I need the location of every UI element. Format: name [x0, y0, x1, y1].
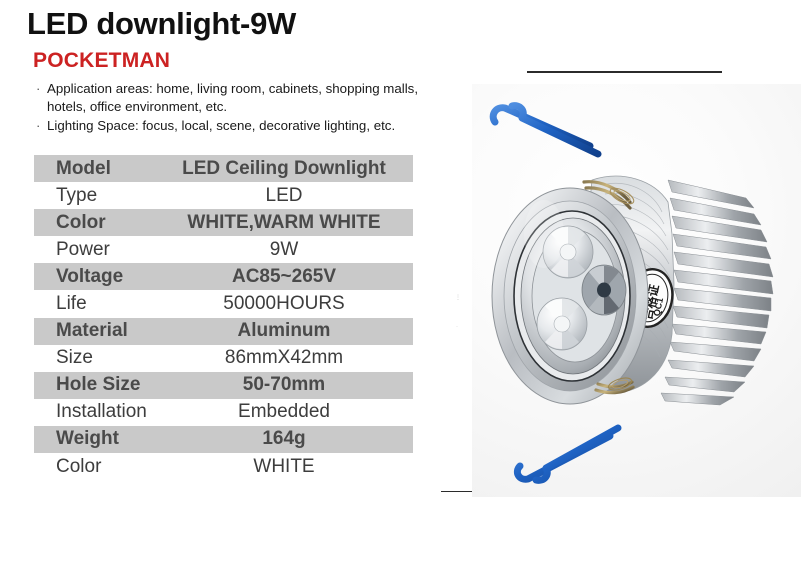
specification-table: ModelLED Ceiling DownlightTypeLEDColorWH… — [34, 155, 413, 480]
spec-value: WHITE,WARM WHITE — [159, 212, 413, 234]
spec-label: Material — [34, 320, 159, 342]
spring-clip-top — [493, 106, 598, 154]
product-photo-downlight: 合格证 QC1 — [472, 84, 801, 497]
spec-row: Hole Size50-70mm — [34, 372, 413, 399]
spec-value: LED — [159, 185, 413, 207]
bullet-icon: · — [36, 117, 40, 135]
lighting-space-row: · Lighting Space: focus, local, scene, d… — [33, 117, 473, 135]
spec-label: Voltage — [34, 266, 159, 288]
spec-label: Color — [34, 456, 159, 478]
bezel-highlight — [524, 200, 564, 268]
spec-row: Power9W — [34, 236, 413, 263]
spec-row: TypeLED — [34, 182, 413, 209]
spec-row: Size86mmX42mm — [34, 345, 413, 372]
spec-value: Aluminum — [159, 320, 413, 342]
faint-artifact-mark: · — [456, 324, 459, 330]
spec-label: Life — [34, 293, 159, 315]
spec-row: InstallationEmbedded — [34, 399, 413, 426]
bullet-icon: · — [36, 80, 40, 98]
spec-row: VoltageAC85~265V — [34, 263, 413, 290]
spec-label: Type — [34, 185, 159, 207]
spec-row: Weight164g — [34, 426, 413, 453]
spec-value: 9W — [159, 239, 413, 261]
application-areas-row: · Application areas: home, living room, … — [33, 80, 473, 98]
application-description: · Application areas: home, living room, … — [33, 80, 473, 135]
spec-row: MaterialAluminum — [34, 318, 413, 345]
spec-row: Life50000HOURS — [34, 290, 413, 317]
spec-value: AC85~265V — [159, 266, 413, 288]
spec-label: Hole Size — [34, 374, 159, 396]
spec-label: Color — [34, 212, 159, 234]
spec-label: Installation — [34, 401, 159, 423]
spec-label: Power — [34, 239, 159, 261]
heat-sink-fins — [661, 180, 773, 405]
spec-row: ModelLED Ceiling Downlight — [34, 155, 413, 182]
product-image-panel: 合格证 QC1 — [472, 84, 801, 497]
page-title: LED downlight-9W — [27, 6, 296, 42]
lighting-space-text: Lighting Space: focus, local, scene, dec… — [47, 118, 395, 133]
spec-value: Embedded — [159, 401, 413, 423]
spec-value: 50-70mm — [159, 374, 413, 396]
brand-name: POCKETMAN — [33, 49, 170, 73]
spec-row: ColorWHITE,WARM WHITE — [34, 209, 413, 236]
faint-artifact-mark: ⋮ — [455, 295, 462, 301]
spec-value: WHITE — [159, 456, 413, 478]
spring-clip-bottom — [517, 428, 618, 480]
spec-value: LED Ceiling Downlight — [159, 158, 413, 180]
bottom-divider-rule — [441, 491, 472, 492]
left-content-column: LED downlight-9W POCKETMAN · Application… — [0, 0, 470, 561]
spec-row: ColorWHITE — [34, 453, 413, 480]
spec-value: 86mmX42mm — [159, 347, 413, 369]
application-areas-line2: hotels, office environment, etc. — [33, 98, 473, 116]
spec-label: Size — [34, 347, 159, 369]
top-divider-rule — [527, 71, 722, 73]
spec-value: 50000HOURS — [159, 293, 413, 315]
spec-value: 164g — [159, 428, 413, 450]
spec-label: Weight — [34, 428, 159, 450]
spec-label: Model — [34, 158, 159, 180]
application-areas-line1: Application areas: home, living room, ca… — [47, 81, 418, 96]
